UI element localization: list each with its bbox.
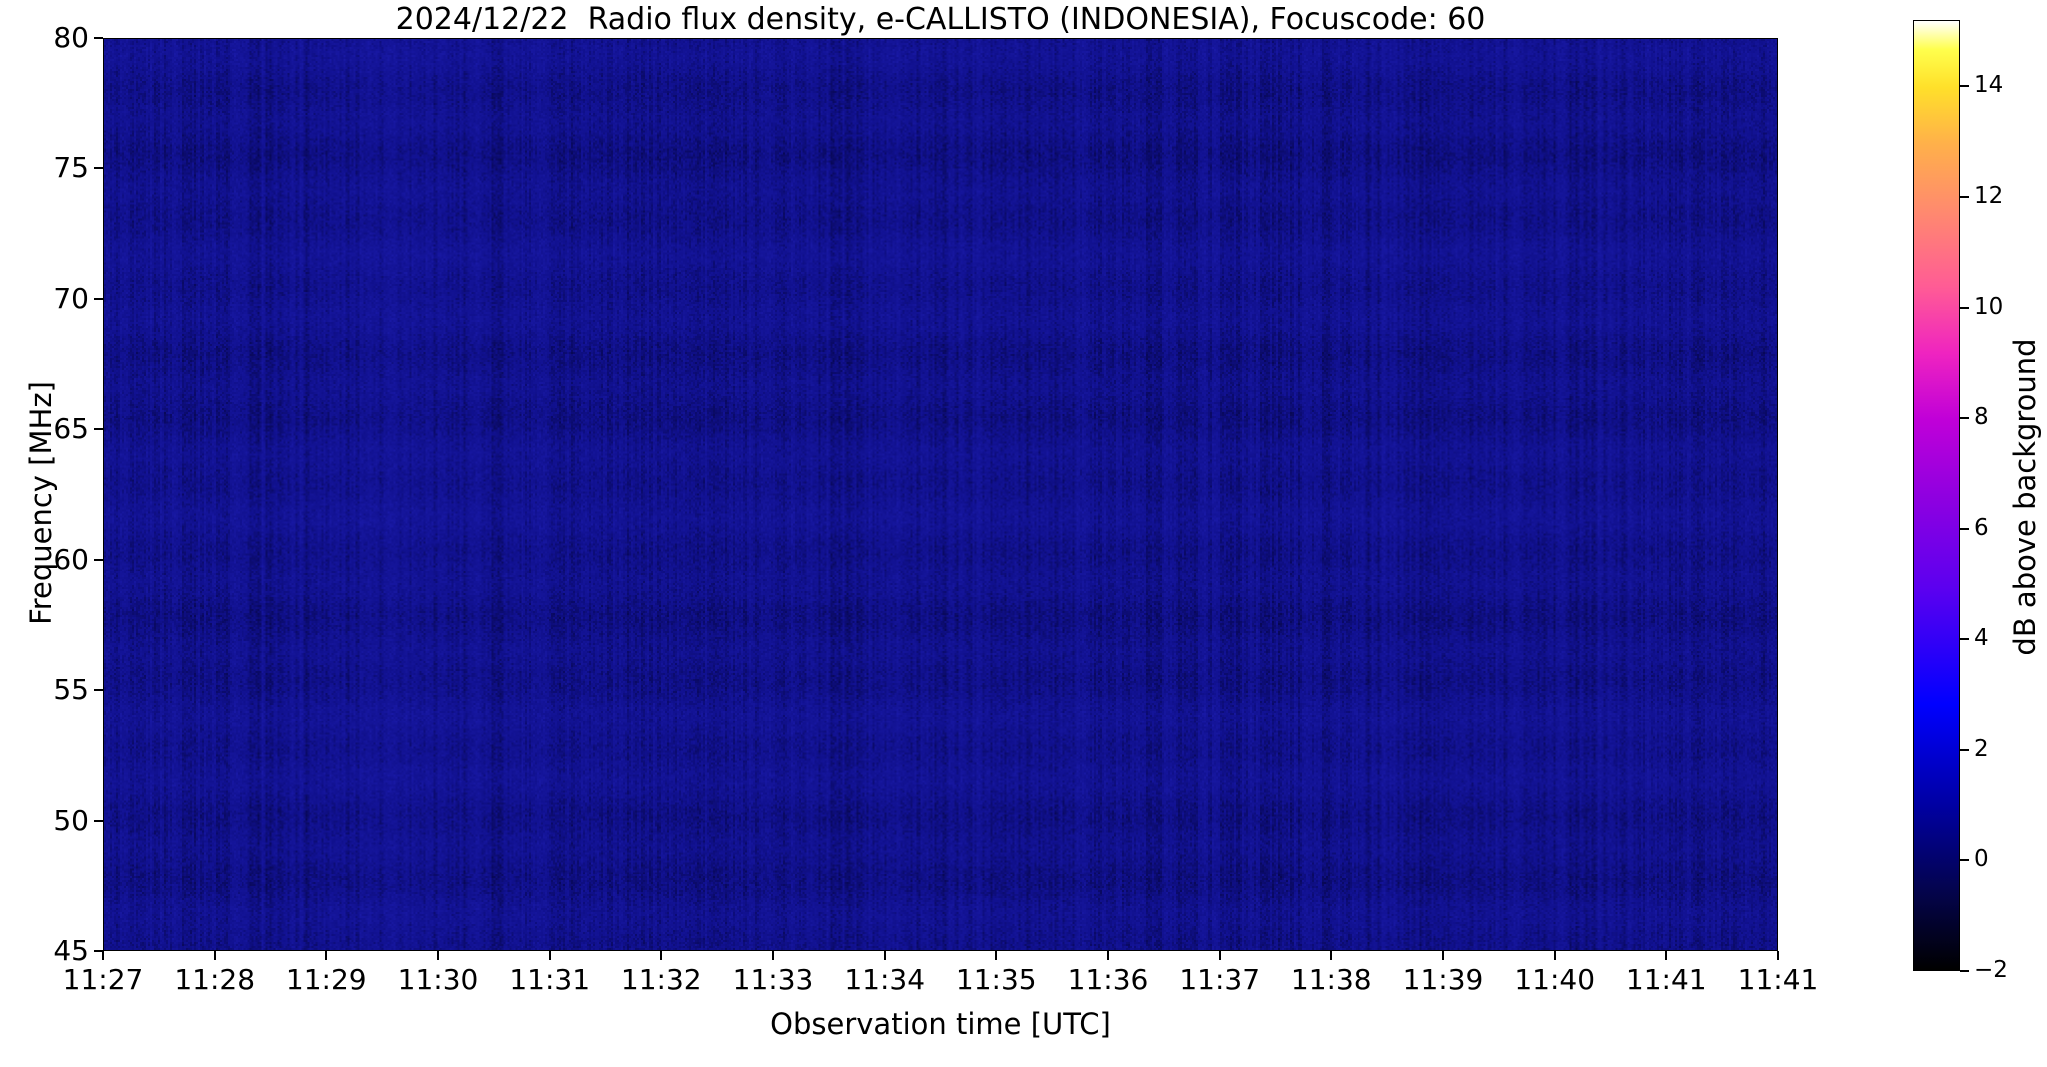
x-tick-mark — [1107, 951, 1109, 960]
x-tick-label: 11:36 — [1048, 963, 1168, 996]
x-tick-mark — [884, 951, 886, 960]
x-tick-label: 11:32 — [601, 963, 721, 996]
colorbar-label: dB above background — [2008, 217, 2042, 777]
x-tick-label: 11:39 — [1383, 963, 1503, 996]
x-tick-label: 11:35 — [936, 963, 1056, 996]
colorbar-tick-mark — [1960, 307, 1969, 309]
y-tick-mark — [94, 37, 103, 39]
colorbar-tick-label: 8 — [1974, 404, 1989, 430]
x-tick-mark — [549, 951, 551, 960]
y-tick-label: 65 — [53, 412, 89, 445]
x-tick-label: 11:29 — [266, 963, 386, 996]
colorbar-tick-label: −2 — [1974, 957, 2008, 983]
x-tick-mark — [437, 951, 439, 960]
x-tick-label: 11:27 — [43, 963, 163, 996]
y-tick-label: 80 — [53, 21, 89, 54]
colorbar-tick-mark — [1960, 196, 1969, 198]
colorbar-tick-mark — [1960, 749, 1969, 751]
x-tick-mark — [660, 951, 662, 960]
y-tick-label: 50 — [53, 804, 89, 837]
x-tick-label: 11:33 — [713, 963, 833, 996]
y-tick-mark — [94, 298, 103, 300]
x-tick-label: 11:30 — [378, 963, 498, 996]
y-tick-label: 55 — [53, 673, 89, 706]
y-axis: Frequency [MHz] 8075706560555045 — [0, 38, 103, 951]
x-tick-mark — [325, 951, 327, 960]
colorbar-tick-label: 10 — [1974, 294, 2003, 320]
x-tick-mark — [214, 951, 216, 960]
colorbar-tick-label: 6 — [1974, 515, 1989, 541]
colorbar-tick-label: 0 — [1974, 846, 1989, 872]
x-tick-label: 11:28 — [155, 963, 275, 996]
colorbar-tick-label: 4 — [1974, 625, 1989, 651]
x-axis: Observation time [UTC] 11:2711:2811:2911… — [103, 951, 1778, 1067]
x-tick-mark — [1777, 951, 1779, 960]
colorbar-tick-mark — [1960, 85, 1969, 87]
x-tick-mark — [102, 951, 104, 960]
colorbar-tick-mark — [1960, 859, 1969, 861]
colorbar: dB above background 14121086420−2 — [1913, 20, 2047, 1020]
colorbar-gradient-fill — [1914, 21, 1959, 970]
y-tick-mark — [94, 689, 103, 691]
x-tick-label: 11:41 — [1606, 963, 1726, 996]
spectrogram-plot-area — [103, 38, 1778, 951]
x-axis-label: Observation time [UTC] — [103, 1007, 1778, 1041]
colorbar-tick-mark — [1960, 417, 1969, 419]
y-tick-mark — [94, 428, 103, 430]
y-tick-label: 60 — [53, 543, 89, 576]
x-tick-mark — [1219, 951, 1221, 960]
page-title: 2024/12/22 Radio flux density, e-CALLIST… — [103, 2, 1778, 38]
y-tick-mark — [94, 820, 103, 822]
y-tick-label: 70 — [53, 282, 89, 315]
y-tick-label: 75 — [53, 151, 89, 184]
colorbar-tick-label: 2 — [1974, 736, 1989, 762]
x-tick-label: 11:40 — [1495, 963, 1615, 996]
colorbar-gradient-bar — [1913, 20, 1960, 971]
x-tick-label: 11:38 — [1271, 963, 1391, 996]
x-tick-label: 11:31 — [490, 963, 610, 996]
spectrogram-image — [104, 39, 1777, 950]
spectrogram-figure: 2024/12/22 Radio flux density, e-CALLIST… — [0, 0, 2047, 1067]
x-tick-mark — [1554, 951, 1556, 960]
x-tick-mark — [1330, 951, 1332, 960]
x-tick-label: 11:34 — [825, 963, 945, 996]
x-tick-mark — [1665, 951, 1667, 960]
colorbar-tick-mark — [1960, 638, 1969, 640]
colorbar-tick-mark — [1960, 970, 1969, 972]
x-tick-label: 11:37 — [1160, 963, 1280, 996]
x-tick-mark — [772, 951, 774, 960]
colorbar-tick-mark — [1960, 528, 1969, 530]
x-tick-label: 11:41 — [1718, 963, 1838, 996]
colorbar-tick-label: 14 — [1974, 72, 2003, 98]
colorbar-tick-label: 12 — [1974, 183, 2003, 209]
y-tick-mark — [94, 167, 103, 169]
y-tick-mark — [94, 559, 103, 561]
x-tick-mark — [1442, 951, 1444, 960]
y-axis-label: Frequency [MHz] — [24, 88, 58, 918]
x-tick-mark — [995, 951, 997, 960]
